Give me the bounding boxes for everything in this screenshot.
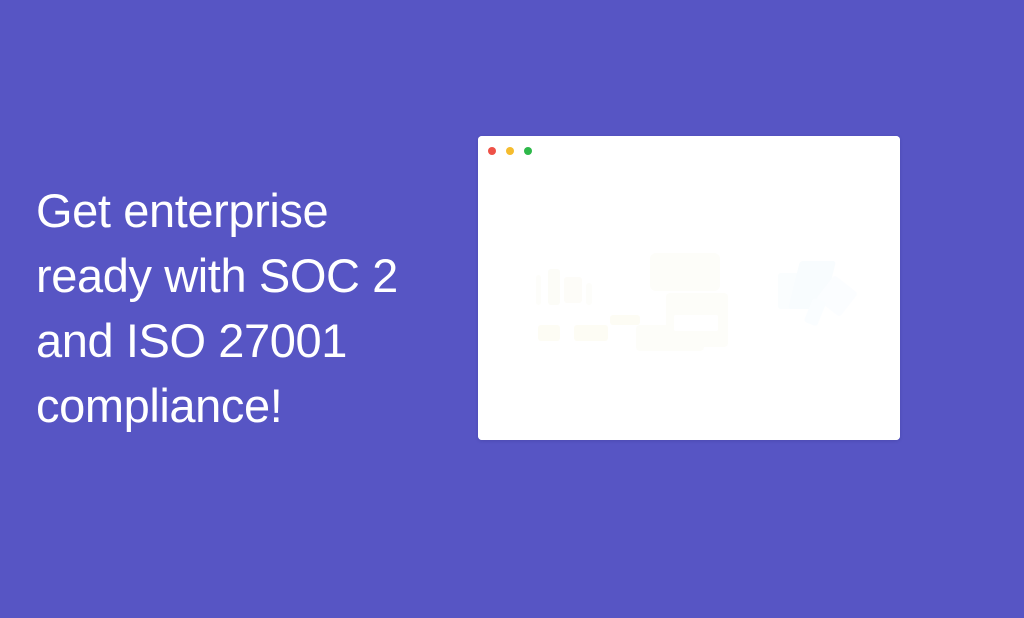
placeholder-shape [610, 315, 640, 325]
minimize-window-icon[interactable] [506, 147, 514, 155]
traffic-light-group [488, 147, 532, 155]
placeholder-watermark [478, 263, 900, 359]
headline-line-4: compliance! [36, 373, 456, 438]
maximize-window-icon[interactable] [524, 147, 532, 155]
headline-line-1: Get enterprise [36, 178, 456, 243]
placeholder-logo-mark [674, 315, 718, 331]
placeholder-shape [548, 269, 560, 305]
browser-titlebar [478, 136, 900, 167]
promo-banner: Get enterprise ready with SOC 2 and ISO … [0, 0, 1024, 618]
headline-line-3: and ISO 27001 [36, 308, 456, 373]
headline: Get enterprise ready with SOC 2 and ISO … [36, 178, 456, 438]
placeholder-shape [574, 325, 608, 341]
placeholder-shape [536, 275, 541, 305]
browser-content-area [478, 167, 900, 440]
close-window-icon[interactable] [488, 147, 496, 155]
placeholder-shape [538, 325, 560, 341]
placeholder-shape [586, 283, 592, 305]
browser-window-mockup [478, 136, 900, 440]
placeholder-logo-mark [650, 253, 720, 291]
placeholder-shape [564, 277, 582, 303]
headline-line-2: ready with SOC 2 [36, 243, 456, 308]
